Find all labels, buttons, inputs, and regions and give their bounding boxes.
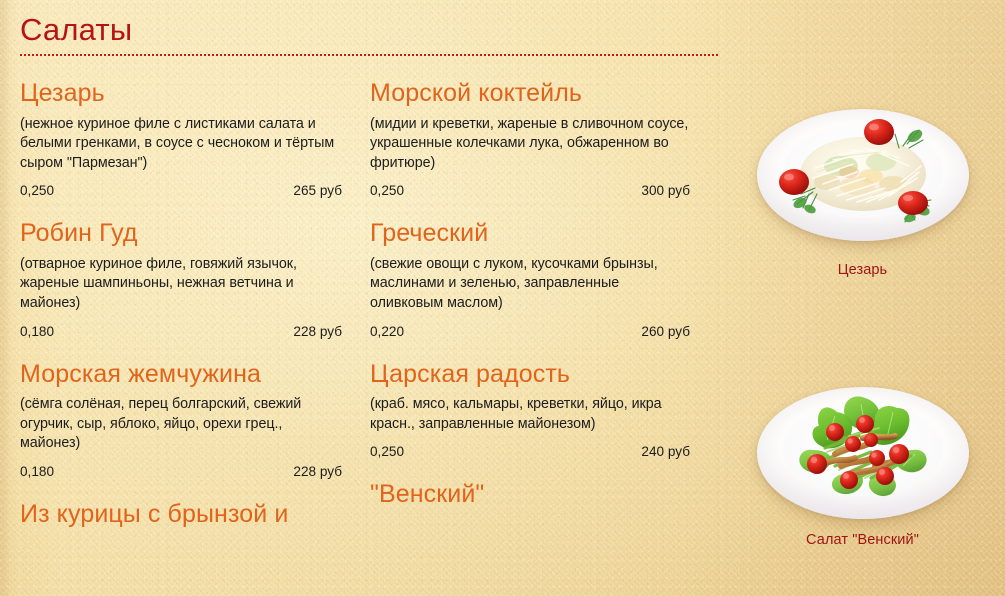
menu-item-price: 300 руб: [641, 183, 690, 198]
menu-item-meta: 0,180 228 руб: [20, 324, 342, 339]
dish-photo-block: Салат "Венский": [720, 378, 1005, 548]
menu-item-meta: 0,180 228 руб: [20, 464, 342, 479]
menu-item-description: (мидии и креветки, жареные в сливочном с…: [370, 115, 690, 174]
menu-item[interactable]: Морская жемчужина (сёмга солёная, перец …: [20, 359, 342, 479]
menu-item[interactable]: Царская радость (краб. мясо, кальмары, к…: [370, 359, 690, 460]
menu-item-meta: 0,250 265 руб: [20, 183, 342, 198]
menu-item-meta: 0,220 260 руб: [370, 324, 690, 339]
menu-item-name: Робин Гуд: [20, 218, 342, 249]
dish-photo-block: Цезарь: [720, 100, 1005, 278]
menu-item[interactable]: Цезарь (нежное куриное филе с листиками …: [20, 78, 342, 198]
vienna-salad-photo: [753, 378, 973, 528]
vienna-salad-illustration: [753, 378, 973, 528]
menu-item[interactable]: Из курицы с брынзой и: [20, 499, 342, 530]
menu-item-name: Морской коктейль: [370, 78, 690, 109]
menu-item-name: "Венский": [370, 479, 690, 510]
menu-item-name: Цезарь: [20, 78, 342, 109]
menu-item[interactable]: Греческий (свежие овощи с луком, кусочка…: [370, 218, 690, 338]
menu-item-name: Из курицы с брынзой и: [20, 499, 342, 530]
menu-item[interactable]: Робин Гуд (отварное куриное филе, говяжи…: [20, 218, 342, 338]
section-header: Салаты: [20, 12, 720, 56]
menu-item-weight: 0,180: [20, 324, 54, 339]
menu-item-weight: 0,180: [20, 464, 54, 479]
menu-column-right: Морской коктейль (мидии и креветки, жаре…: [370, 78, 690, 530]
menu-item-description: (отварное куриное филе, говяжий язычок, …: [20, 255, 342, 314]
menu-item-description: (краб. мясо, кальмары, креветки, яйцо, и…: [370, 395, 690, 434]
menu-item[interactable]: Морской коктейль (мидии и креветки, жаре…: [370, 78, 690, 198]
menu-item-description: (свежие овощи с луком, кусочками брынзы,…: [370, 255, 690, 314]
menu-item-price: 240 руб: [641, 444, 690, 459]
menu-item-description: (сёмга солёная, перец болгарский, свежий…: [20, 395, 342, 454]
menu-item-name: Морская жемчужина: [20, 359, 342, 390]
menu-item-weight: 0,220: [370, 324, 404, 339]
caesar-salad-illustration: [753, 100, 973, 250]
menu-item-weight: 0,250: [370, 183, 404, 198]
menu-item-meta: 0,250 240 руб: [370, 444, 690, 459]
photo-caption: Салат "Венский": [720, 532, 1005, 548]
menu-item-price: 228 руб: [293, 324, 342, 339]
photo-caption: Цезарь: [720, 262, 1005, 278]
menu-item-price: 265 руб: [293, 183, 342, 198]
menu-page: Салаты Цезарь (нежное куриное филе с лис…: [0, 0, 1005, 596]
page-title: Салаты: [20, 12, 720, 49]
menu-item-meta: 0,250 300 руб: [370, 183, 690, 198]
caesar-salad-photo: [753, 100, 973, 250]
menu-item-price: 260 руб: [641, 324, 690, 339]
photo-rail: Цезарь: [720, 0, 1005, 596]
menu-item[interactable]: "Венский": [370, 479, 690, 510]
menu-item-description: (нежное куриное филе с листиками салата …: [20, 115, 342, 174]
menu-item-name: Царская радость: [370, 359, 690, 390]
menu-column-left: Цезарь (нежное куриное филе с листиками …: [20, 78, 342, 549]
section-divider: [20, 54, 718, 56]
menu-item-weight: 0,250: [370, 444, 404, 459]
menu-item-price: 228 руб: [293, 464, 342, 479]
menu-item-name: Греческий: [370, 218, 690, 249]
menu-item-weight: 0,250: [20, 183, 54, 198]
